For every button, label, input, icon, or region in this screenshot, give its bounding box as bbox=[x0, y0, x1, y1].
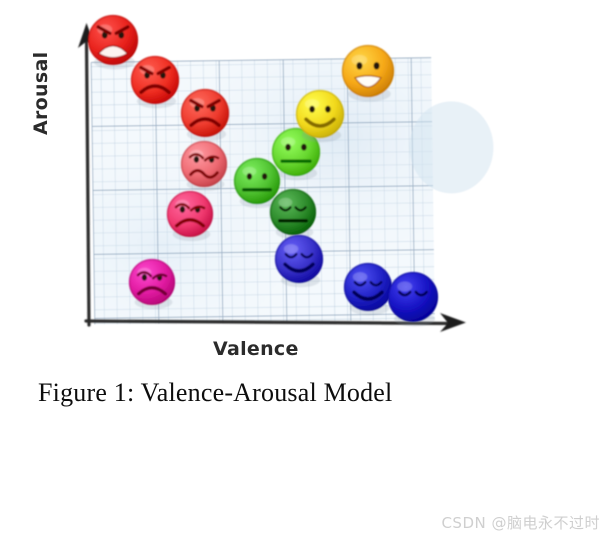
emotion-face-calm bbox=[270, 189, 316, 239]
emotion-face-depressed bbox=[129, 259, 175, 309]
emotion-face-enraged bbox=[88, 15, 138, 70]
emotion-face-distressed bbox=[181, 141, 227, 191]
emotion-face-happy bbox=[296, 90, 344, 142]
emotion-face-asleep bbox=[388, 272, 438, 327]
emotion-face-excited bbox=[342, 45, 394, 102]
emotion-face-sad bbox=[167, 191, 213, 241]
y-axis-label: Arousal bbox=[30, 52, 52, 135]
x-axis-label: Valence bbox=[213, 338, 299, 360]
emotion-face-relaxed bbox=[275, 235, 323, 287]
csdn-watermark: CSDN @脑电永不过时 bbox=[441, 512, 600, 533]
figure-caption: Figure 1: Valence-Arousal Model bbox=[38, 378, 392, 408]
emotion-face-frustrated bbox=[181, 89, 229, 141]
emotion-face-angry bbox=[131, 56, 179, 108]
valence-arousal-plot bbox=[0, 0, 613, 440]
emotion-face-sleepy bbox=[344, 263, 392, 315]
valence-arousal-figure: Arousal Valence bbox=[0, 0, 613, 440]
